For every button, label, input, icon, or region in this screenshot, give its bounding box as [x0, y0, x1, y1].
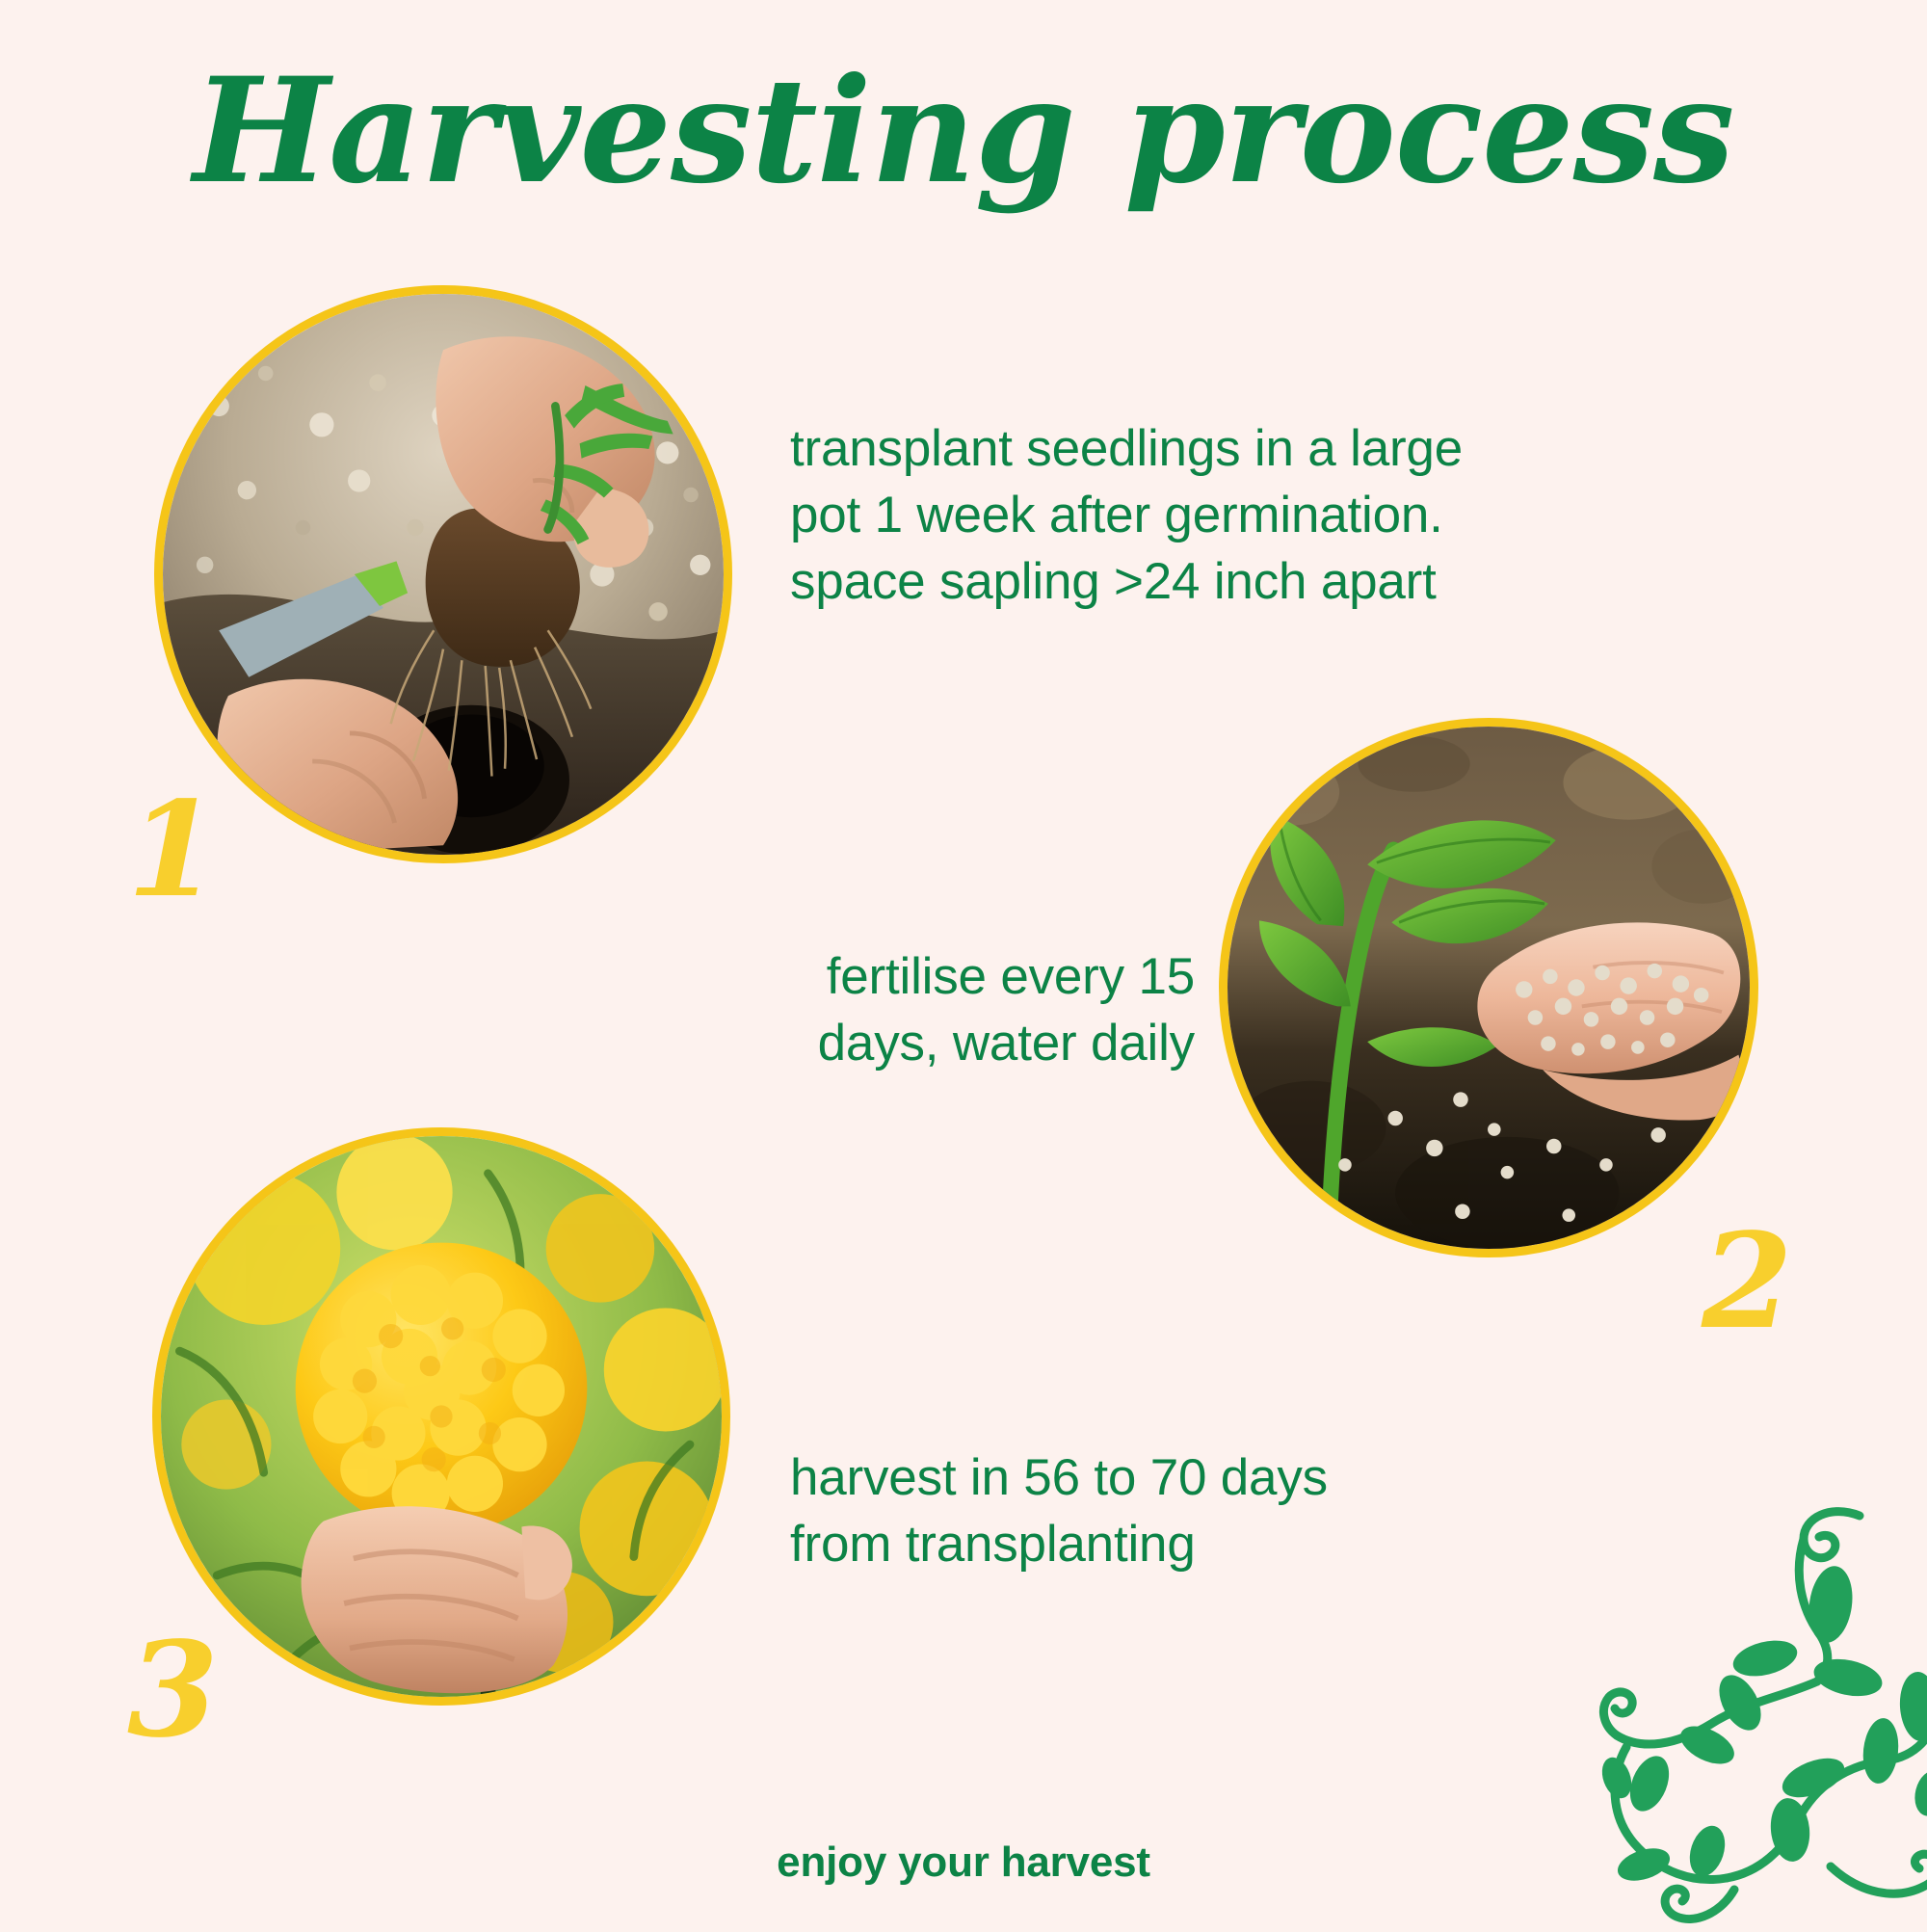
step-3-text: harvest in 56 to 70 days from transplant…: [790, 1445, 1619, 1578]
step-3-numeral: 3: [127, 1625, 219, 1756]
step-2-numeral: 2: [1702, 1216, 1793, 1347]
transplanting-seedling-photo: [154, 285, 732, 863]
marigold-harvest-photo: [152, 1127, 730, 1706]
step-2-text: fertilise every 15 days, water daily: [578, 944, 1195, 1077]
leafy-vine-illustration: [1542, 1489, 1927, 1932]
fertilising-seedling-photo: [1219, 718, 1758, 1257]
step-1-text: transplant seedlings in a large pot 1 we…: [790, 416, 1599, 616]
page-title: Harvesting process: [0, 56, 1927, 208]
step-1-numeral: 1: [127, 784, 219, 915]
infographic-canvas: Harvesting process: [0, 0, 1927, 1927]
